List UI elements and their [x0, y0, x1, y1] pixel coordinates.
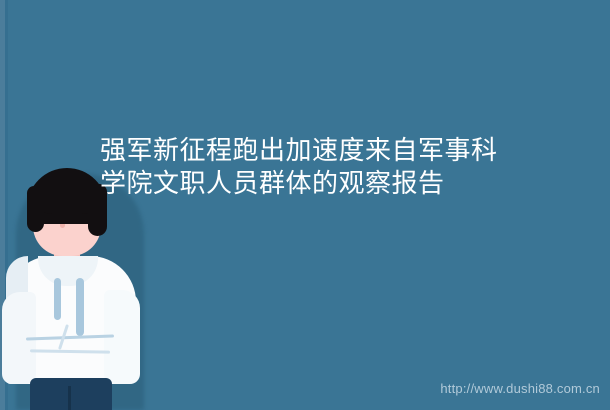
- source-url-watermark: http://www.dushi88.com.cn: [440, 381, 600, 396]
- pants-shape: [30, 378, 112, 410]
- article-cover-banner: 强军新征程跑出加速度来自军事科 学院文职人员群体的观察报告 http://www…: [0, 0, 610, 410]
- hoodie-drawstring-right: [76, 278, 84, 336]
- hoodie-drawstring-left: [54, 278, 61, 320]
- cover-title-line-2: 学院文职人员群体的观察报告: [100, 167, 560, 200]
- pants-center-seam: [68, 386, 71, 410]
- cover-title-line-1: 强军新征程跑出加速度来自军事科: [100, 134, 560, 167]
- cover-title: 强军新征程跑出加速度来自军事科 学院文职人员群体的观察报告: [100, 134, 560, 200]
- hair-left-side-shape: [27, 186, 44, 232]
